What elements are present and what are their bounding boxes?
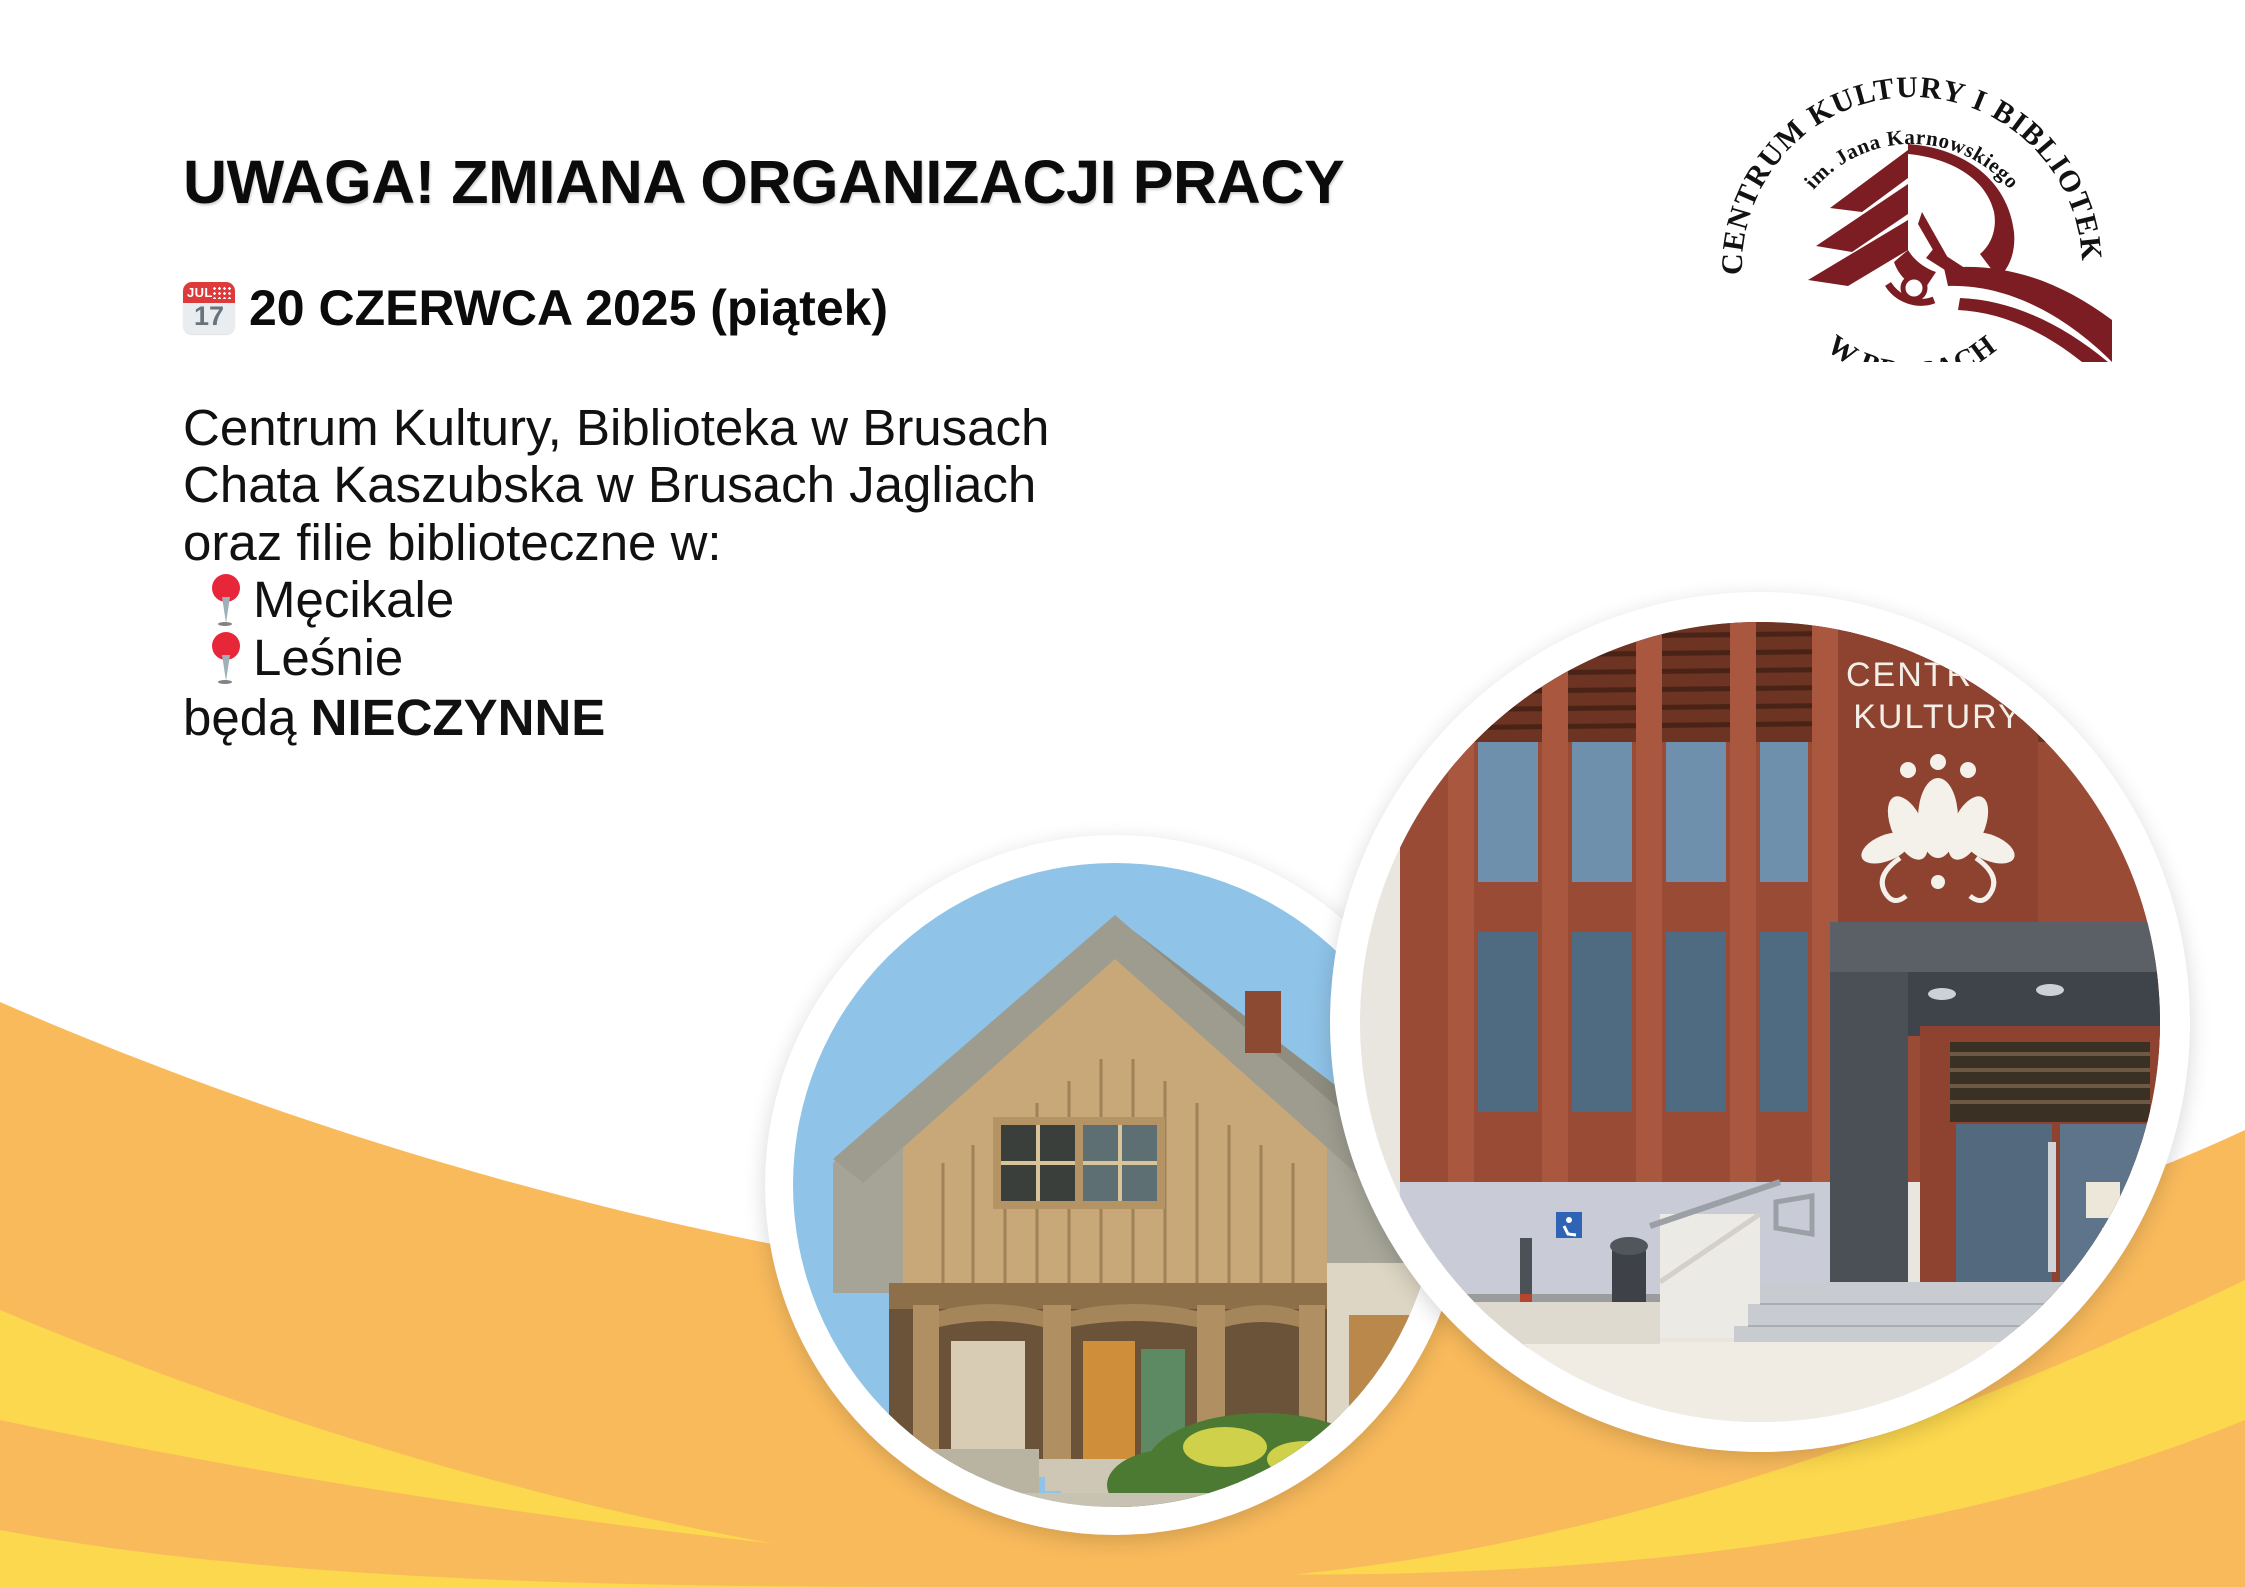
building-sign-line-2: KULTURY [1853,698,2023,736]
body-line-3: oraz filie biblioteczne w: [183,514,1633,572]
branch-label-lesnie: Leśnie [253,629,403,687]
round-pushpin-icon [209,572,243,628]
poster-canvas: CENTRUM KULTURY I BIBLIOTEKI im. Jana Ka… [0,0,2245,1587]
svg-text:W BRUSACH: W BRUSACH [1821,329,2002,362]
closing-emphasis: NIECZYNNE [311,689,606,746]
building-sign-line-1: CENTRUM [1846,656,2030,694]
logo-arc-bottom: W BRUSACH [1821,329,2002,362]
body-line-1: Centrum Kultury, Biblioteka w Brusach [183,399,1633,457]
announcement-body: Centrum Kultury, Biblioteka w Brusach Ch… [183,399,1633,747]
calendar-day: 17 [183,301,235,332]
svg-text:CENTRUM KULTURY I BIBLIOTEKI: CENTRUM KULTURY I BIBLIOTEKI [1712,62,2108,275]
event-date-row: JUL 17 20 CZERWCA 2025 (piątek) [183,282,1633,335]
pushpin-needle [222,597,230,623]
closing-prefix: będą [183,689,311,746]
body-line-2: Chata Kaszubska w Brusach Jagliach [183,456,1633,514]
branch-item-mecikale: Męcikale [183,571,1633,629]
closing-statement: będą NIECZYNNE [183,689,1633,747]
calendar-icon: JUL 17 [183,282,235,334]
page-title: UWAGA! ZMIANA ORGANIZACJI PRACY [183,150,1633,214]
branch-item-lesnie: Leśnie [183,629,1633,687]
event-date: 20 CZERWCA 2025 (piątek) [249,282,888,335]
calendar-dots [212,286,232,299]
pushpin-needle [222,655,230,681]
poster-text-block: UWAGA! ZMIANA ORGANIZACJI PRACY JUL 17 2… [183,150,1633,746]
organization-logo: CENTRUM KULTURY I BIBLIOTEKI im. Jana Ka… [1712,62,2112,362]
round-pushpin-icon [209,630,243,686]
pushpin-shadow [218,622,232,626]
logo-arc-top: CENTRUM KULTURY I BIBLIOTEKI [1712,62,2108,275]
pushpin-shadow [218,680,232,684]
calendar-month: JUL [187,285,213,300]
branch-label-mecikale: Męcikale [253,571,454,629]
